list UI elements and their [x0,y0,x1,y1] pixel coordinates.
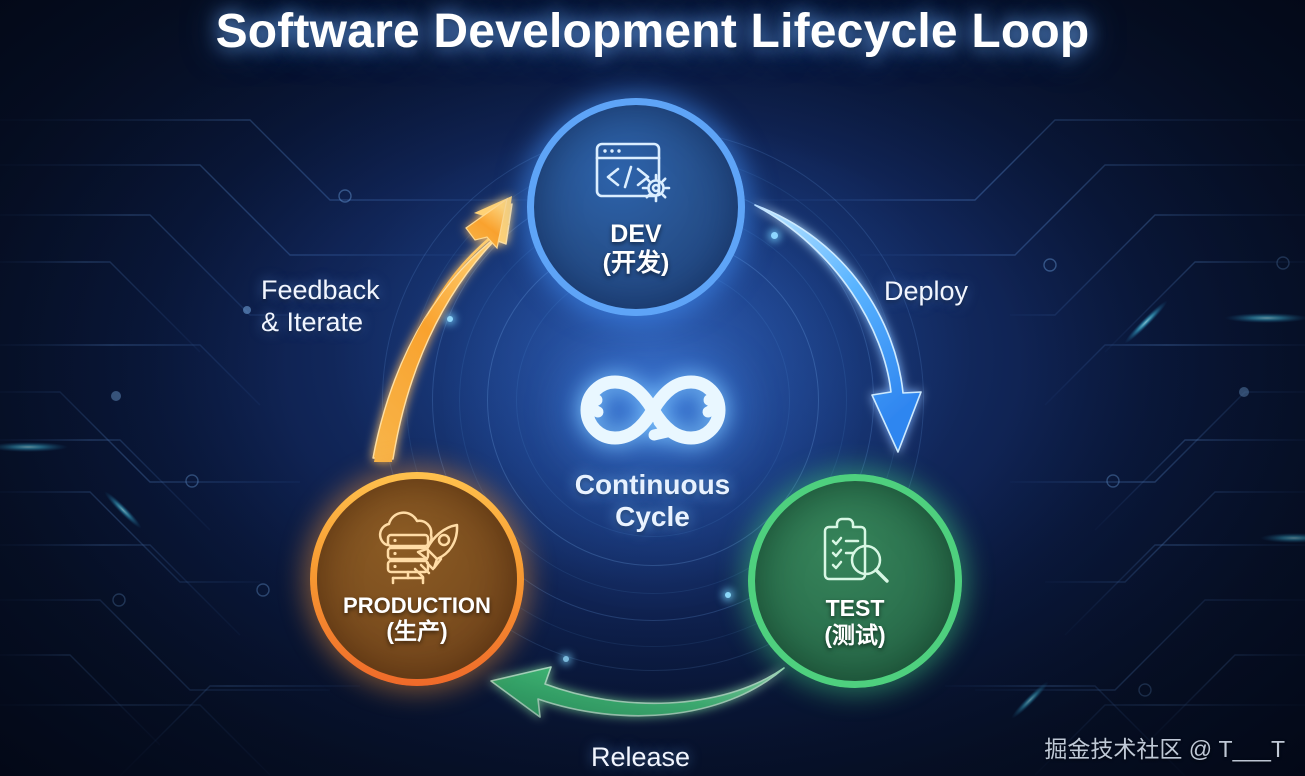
arrow-label-deploy: Deploy [884,275,968,307]
node-production-label: PRODUCTION (生产) [343,594,491,644]
node-test-label-en: TEST [826,595,885,621]
node-dev[interactable]: DEV (开发) [527,98,745,316]
node-dev-label-cn: (开发) [603,250,670,277]
node-test-label: TEST (测试) [824,596,885,647]
node-dev-label: DEV (开发) [603,221,670,276]
node-production-label-cn: (生产) [343,619,491,643]
node-test[interactable]: TEST (测试) [748,474,962,688]
arrow-label-release: Release [591,741,690,773]
node-production[interactable]: PRODUCTION (生产) [310,472,524,686]
clipboard-checklist-magnifier-icon [813,515,897,596]
arrow-label-feedback: Feedback & Iterate [261,274,380,339]
node-production-label-en: PRODUCTION [343,593,491,618]
page-title: Software Development Lifecycle Loop [0,4,1305,59]
node-test-label-cn: (测试) [824,623,885,647]
slide-canvas: Software Development Lifecycle Loop [0,0,1305,776]
node-dev-label-en: DEV [610,220,661,248]
code-window-gear-icon [591,138,681,221]
watermark: 掘金技术社区 @ T___T [1044,730,1285,764]
cloud-server-rocket-icon [371,515,463,594]
